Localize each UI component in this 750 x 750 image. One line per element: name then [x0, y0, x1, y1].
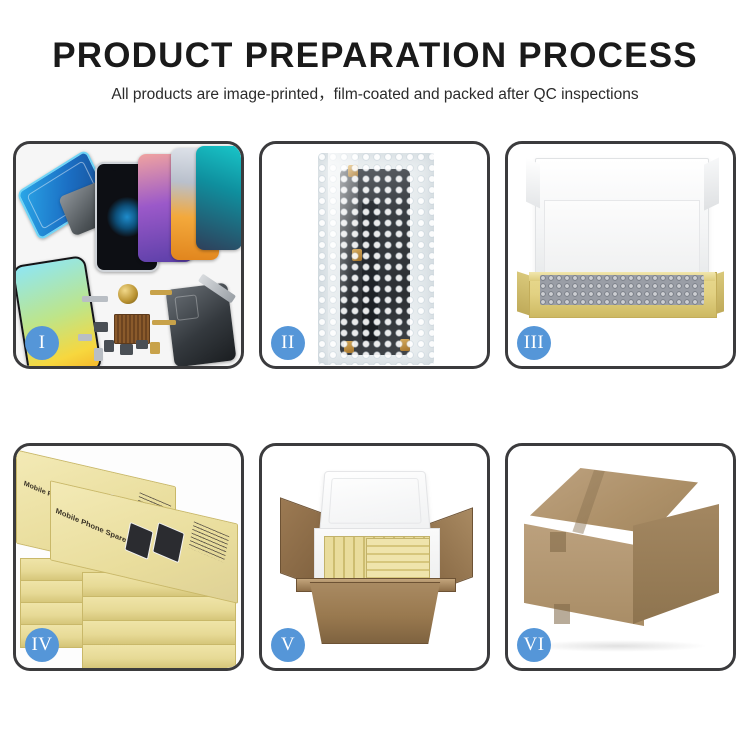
- carton-shadow: [528, 640, 708, 652]
- step-badge-2: II: [271, 326, 305, 360]
- step-image-6: VI: [508, 446, 733, 668]
- step-image-4: Mobile Phone Spare Parts Mobile Phone Sp…: [16, 446, 241, 668]
- step-badge-4: IV: [25, 628, 59, 662]
- phone-screen-teal: [196, 146, 241, 250]
- step-badge-6: VI: [517, 628, 551, 662]
- product-preparation-infographic: PRODUCT PREPARATION PROCESS All products…: [0, 0, 750, 750]
- packed-yellow-boxes-row-2: [366, 538, 430, 580]
- step-image-1: I: [16, 144, 241, 366]
- step-badge-5: V: [271, 628, 305, 662]
- step-card-5: V: [259, 443, 490, 671]
- bubble-texture: [318, 153, 434, 365]
- header: PRODUCT PREPARATION PROCESS All products…: [0, 0, 750, 103]
- part-vibrator: [104, 340, 114, 352]
- stack-box-front-4: [82, 644, 236, 668]
- step-badge-3: III: [517, 326, 551, 360]
- step-card-2: II: [259, 141, 490, 369]
- step-badge-1: I: [25, 326, 59, 360]
- part-sim-tray: [94, 348, 103, 361]
- stack-box-front-3: [82, 620, 236, 646]
- step-image-5: V: [262, 446, 487, 668]
- carton-tape-upper: [550, 532, 566, 552]
- bubble-wrap-bag: [318, 153, 434, 365]
- foam-lid-front-face: [544, 200, 700, 278]
- process-steps-grid: I II: [13, 141, 737, 671]
- page-title: PRODUCT PREPARATION PROCESS: [0, 38, 750, 73]
- part-earpiece-mesh: [82, 296, 108, 302]
- part-flex-cable-2: [152, 320, 176, 325]
- part-screw-plate: [78, 334, 92, 341]
- step-card-1: I: [13, 141, 244, 369]
- part-battery-connector: [150, 342, 160, 354]
- part-button-bracket: [136, 340, 148, 349]
- grey-bubble-wrapped-contents: [540, 275, 704, 305]
- part-flex-cable-1: [150, 290, 172, 295]
- page-subtitle: All products are image-printed，film-coat…: [0, 87, 750, 103]
- part-speaker-coil: [118, 284, 138, 304]
- step-card-6: VI: [505, 443, 736, 671]
- carton-front-face: [301, 582, 449, 644]
- step-card-4: Mobile Phone Spare Parts Mobile Phone Sp…: [13, 443, 244, 671]
- styrofoam-lid: [319, 471, 431, 532]
- step-card-3: III: [505, 141, 736, 369]
- part-camera-module: [94, 322, 108, 332]
- step-image-2: II: [262, 144, 487, 366]
- step-image-3: III: [508, 144, 733, 366]
- part-connector: [120, 344, 133, 355]
- stack-box-front-2: [82, 596, 236, 622]
- carton-front-face: [524, 516, 644, 626]
- carton-tape-lower: [554, 604, 570, 624]
